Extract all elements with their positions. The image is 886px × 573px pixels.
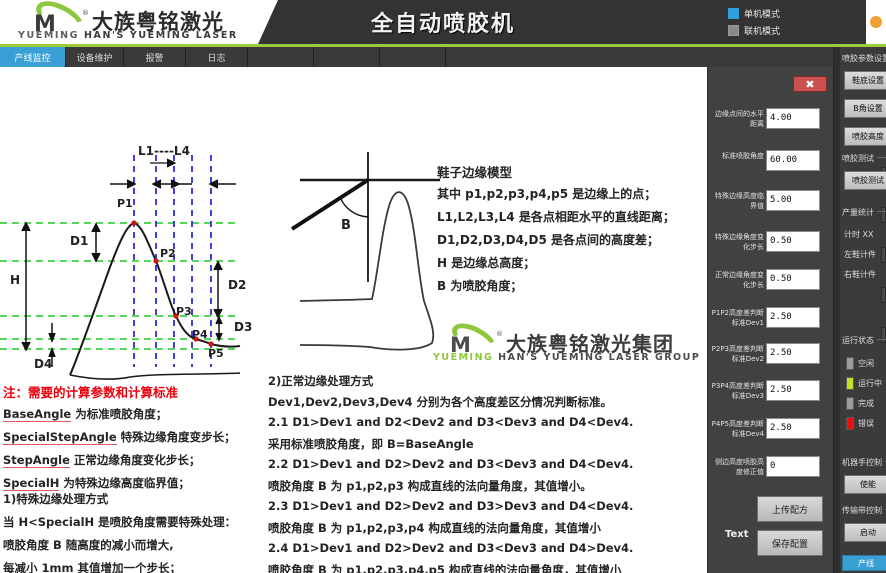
status-indicator-1: 空闲 [846,357,874,370]
param-label-1: 边缘点间的水平距离 [710,110,764,129]
tab-5[interactable] [248,47,314,67]
param-input-10[interactable]: 0 [766,456,820,477]
label-P1: P1 [117,197,133,210]
sidebar-heading-text-0: 机器手控制 [842,458,882,467]
sidebar-button-1[interactable]: 鞋底设置 [844,71,886,90]
normal-edge-line-1: Dev1,Dev2,Dev3,Dev4 分别为各个高度差区分情况判断标准。 [268,394,612,410]
param-input-9[interactable]: 2.50 [766,418,820,439]
brand-logo-panel: M ® 大族粤铭激光 YUEMING HAN'S YUEMING LASER [0,0,278,44]
label-D1: D1 [70,234,88,248]
param-label-5: 正常边缘角度变化步长 [710,271,764,290]
sidebar-heading-text-4: 喷胶测试 [842,154,874,163]
calc-param-desc-1: 为标准喷胶角度； [71,407,167,421]
application-window: M ® 大族粤铭激光 YUEMING HAN'S YUEMING LASER 全… [0,0,886,573]
watermark-en-rest: HAN'S YUEMING LASER GROUP [498,352,700,363]
sidebar-heading-0: 机器手控制 [842,457,886,468]
special-edge-line-3: 每减小 1mm 其值增加一个步长； [3,560,181,573]
sidebar-heading-text-0: 喷胶参数设置 [842,54,886,63]
tab-2[interactable]: 设备维护 [66,47,124,67]
tab-7[interactable] [380,47,446,67]
sidebar-stat-line-8: 左鞋计件 [844,249,876,260]
sidebar-stub-3[interactable] [881,247,886,263]
calc-params-title: 注：需要的计算参数和计算标准 [3,382,178,401]
tab-3[interactable]: 报警 [124,47,186,67]
param-label-8: P3P4高度差判断标准Dev3 [710,382,764,401]
sidebar-stat-line-9: 右鞋计件 [844,269,876,280]
calc-param-2: SpecialStepAngle 特殊边缘角度变步长； [3,429,236,445]
normal-edge-line-4: 2.2 D1>Dev1 and D2>Dev2 and D3<Dev3 and … [268,457,633,471]
label-P5: P5 [208,347,224,360]
calc-param-desc-2: 特殊边缘角度变步长； [117,430,236,444]
label-D2: D2 [228,278,246,292]
close-icon[interactable]: ✖ [793,76,827,92]
shoe-cross-section [300,192,433,349]
parameter-panel: ✖ 边缘点间的水平距离4.00标准喷胶角度60.00特殊边缘高度临界值5.00特… [707,67,833,573]
status-indicator-4: 错误 [846,417,874,430]
watermark-logo: M ® 大族粤铭激光集团 YUEMING HAN'S YUEMING LASER… [425,325,707,375]
status-label-2: 运行中 [858,378,882,389]
param-field-2: 标准喷胶角度60.00 [708,152,834,188]
status-led-icon-1 [846,357,854,370]
status-led-icon-4 [846,417,854,430]
save-config-button[interactable]: 保存配置 [757,530,823,556]
main-diagram-canvas: P1 P2 P3 P4 P5 H D1 D2 D3 D4 L1----L4 B … [0,67,707,573]
label-L-span: L1----L4 [138,144,190,158]
calc-param-4: SpecialH 为特殊边缘高度临界值； [3,475,190,491]
logo-en-rest: HAN'S YUEMING LASER [84,30,238,41]
label-D3: D3 [234,320,252,334]
mode-selector: 单机模式 联机模式 [728,5,814,39]
calc-param-desc-3: 正常边缘角度变化步长； [70,453,201,467]
param-input-3[interactable]: 5.00 [766,190,820,211]
status-label-4: 错误 [858,418,874,429]
normal-edge-line-3: 采用标准喷胶角度，即 B=BaseAngle [268,436,474,452]
sidebar-heading-4: 喷胶测试 [842,153,886,164]
param-label-2: 标准喷胶角度 [710,152,764,162]
sidebar-stub-4[interactable] [881,287,886,303]
tab-1[interactable]: 产线监控 [0,47,66,67]
logo-en-yueming: YUEMING [18,30,79,41]
logo-registered-icon: ® [82,9,89,17]
special-edge-line-1: 当 H<SpecialH 是喷胶角度需要特殊处理： [3,514,236,530]
tab-6[interactable] [314,47,380,67]
param-field-3: 特殊边缘高度临界值5.00 [708,192,834,228]
arrow-D1 [92,224,100,261]
model-line-1: 鞋子边缘模型 [437,162,512,181]
power-indicator-icon [870,16,882,28]
sidebar-heading-text-10: 运行状态 [842,336,874,345]
sidebar-heading-10: 运行状态 [842,335,886,346]
normal-edge-line-7: 喷胶角度 B 为 p1,p2,p3,p4 构成直线的法向量角度，其值增小 [268,520,601,536]
calc-param-1: BaseAngle 为标准喷胶角度； [3,406,167,422]
special-edge-section-title: 1)特殊边缘处理方式 [3,491,108,507]
sidebar-button-2[interactable]: B角设置 [844,99,886,118]
mode-row-standalone[interactable]: 单机模式 [728,5,814,22]
watermark-en-yueming: YUEMING [433,352,493,363]
normal-edge-line-5: 喷胶角度 B 为 p1,p2,p3 构成直线的法向量角度，其值增小。 [268,478,592,494]
sidebar-stat-line-7: 计时 XX [844,229,874,240]
calc-param-desc-4: 为特殊边缘高度临界值； [59,476,190,490]
param-label-6: P1P2高度差判断标准Dev1 [710,309,764,328]
status-indicator-3: 完成 [846,397,874,410]
status-led-icon-3 [846,397,854,410]
tab-4[interactable]: 日志 [186,47,248,67]
sidebar-button-3[interactable]: 喷胶高度 [844,127,886,146]
special-edge-line-2: 喷胶角度 B 随高度的减小而增大, [3,537,174,553]
calc-param-term-3: StepAngle [3,453,70,468]
param-label-9: P4P5高度差判断标准Dev4 [710,420,764,439]
status-label-1: 空闲 [858,358,874,369]
sidebar-heading-text-2: 传输带控制 [842,506,882,515]
param-input-5[interactable]: 0.50 [766,269,820,290]
param-field-9: P4P5高度差判断标准Dev42.50 [708,420,834,456]
sidebar-heading-rule-10 [877,339,886,340]
brand-logo: M ® 大族粤铭激光 YUEMING HAN'S YUEMING LASER [8,4,268,42]
label-networked-mode: 联机模式 [744,24,780,37]
L-bracket [150,159,175,167]
header-right-accent [866,0,886,44]
status-led-icon-2 [846,377,854,390]
calc-param-term-1: BaseAngle [3,407,71,422]
normal-edge-line-8: 2.4 D1>Dev1 and D2>Dev2 and D3<Dev3 and … [268,541,633,555]
model-line-5: H 是边缘总高度； [437,254,535,271]
watermark-english-name: YUEMING HAN'S YUEMING LASER GROUP [433,352,700,363]
label-P2: P2 [160,247,176,260]
param-label-7: P2P3高度差判断标准Dev2 [710,345,764,364]
status-label-3: 完成 [858,398,874,409]
sidebar-button-3[interactable]: 启动 [844,523,886,542]
checkbox-standalone-mode[interactable] [728,8,739,19]
param-field-10: 侧边高度喷胶高度修正值0 [708,458,834,494]
sidebar-button-1[interactable]: 使能 [844,475,886,494]
calc-param-term-4: SpecialH [3,476,59,491]
param-input-1[interactable]: 4.00 [766,108,820,129]
param-field-8: P3P4高度差判断标准Dev32.50 [708,382,834,418]
sidebar-heading-rule-6 [877,211,886,212]
label-D4: D4 [34,357,52,371]
checkbox-networked-mode[interactable] [728,25,739,36]
logo-english-name: YUEMING HAN'S YUEMING LASER [18,30,238,41]
base-profile-curve [70,373,240,379]
sidebar-heading-0: 喷胶参数设置 [842,53,886,64]
sidebar-heading-6: 产量统计 [842,207,886,218]
param-field-5: 正常边缘角度变化步长0.50 [708,271,834,307]
sidebar-rail [834,47,840,573]
param-field-7: P2P3高度差判断标准Dev22.50 [708,345,834,381]
param-input-2[interactable]: 60.00 [766,150,820,171]
model-line-2: 其中 p1,p2,p3,p4,p5 是边缘上的点； [437,185,656,202]
label-P4: P4 [192,328,208,341]
text-status-label: Text [725,529,749,540]
normal-edge-line-9: 喷胶角度 B 为 p1,p2,p3,p4,p5 构成直线的法向量角度，其值增小 [268,562,621,573]
sidebar-heading-text-6: 产量统计 [842,208,874,217]
sidebar-button-5[interactable]: 喷胶测试 [844,171,886,190]
model-line-4: D1,D2,D3,D4,D5 是各点间的高度差； [437,231,659,248]
param-input-8[interactable]: 2.50 [766,380,820,401]
param-field-1: 边缘点间的水平距离4.00 [708,110,834,146]
arrow-D2 [214,262,222,317]
param-label-3: 特殊边缘高度临界值 [710,192,764,211]
label-standalone-mode: 单机模式 [744,7,780,20]
model-line-6: B 为喷胶角度； [437,277,522,294]
model-line-3: L1,L2,L3,L4 是各点相距水平的直线距离； [437,208,675,225]
arrows-L-spans [110,180,236,188]
watermark-registered-icon: ® [496,330,503,338]
arrow-H [22,223,30,350]
sidebar-production-button[interactable]: 产线 [842,555,886,571]
arrow-D3 [216,317,222,340]
status-indicator-2: 运行中 [846,377,882,390]
label-H: H [10,273,20,287]
param-input-7[interactable]: 2.50 [766,343,820,364]
param-input-6[interactable]: 2.50 [766,307,820,328]
label-P3: P3 [176,305,192,318]
right-sidebar: 喷胶参数设置鞋底设置B角设置喷胶高度喷胶测试喷胶测试产量统计计时 XX左鞋计件右… [833,47,886,573]
sidebar-heading-2: 传输带控制 [842,505,886,516]
param-input-4[interactable]: 0.50 [766,231,820,252]
normal-edge-section-title: 2)正常边缘处理方式 [268,373,373,389]
calc-param-3: StepAngle 正常边缘角度变化步长； [3,452,200,468]
mode-row-networked[interactable]: 联机模式 [728,22,814,39]
calc-param-term-2: SpecialStepAngle [3,430,117,445]
param-label-10: 侧边高度喷胶高度修正值 [710,458,764,477]
param-field-6: P1P2高度差判断标准Dev12.50 [708,309,834,345]
param-field-4: 特殊边缘角度变化步长0.50 [708,233,834,269]
normal-edge-line-2: 2.1 D1>Dev1 and D2<Dev2 and D3<Dev3 and … [268,415,633,429]
upload-recipe-button[interactable]: 上传配方 [757,496,823,522]
app-header: M ® 大族粤铭激光 YUEMING HAN'S YUEMING LASER 全… [0,0,886,44]
tab-bar: 产线监控设备维护报警日志 [0,47,886,67]
param-label-4: 特殊边缘角度变化步长 [710,233,764,252]
normal-edge-line-6: 2.3 D1>Dev1 and D2>Dev2 and D3>Dev3 and … [268,499,633,513]
sidebar-heading-rule-4 [877,157,886,158]
label-B-angle: B [341,218,351,233]
